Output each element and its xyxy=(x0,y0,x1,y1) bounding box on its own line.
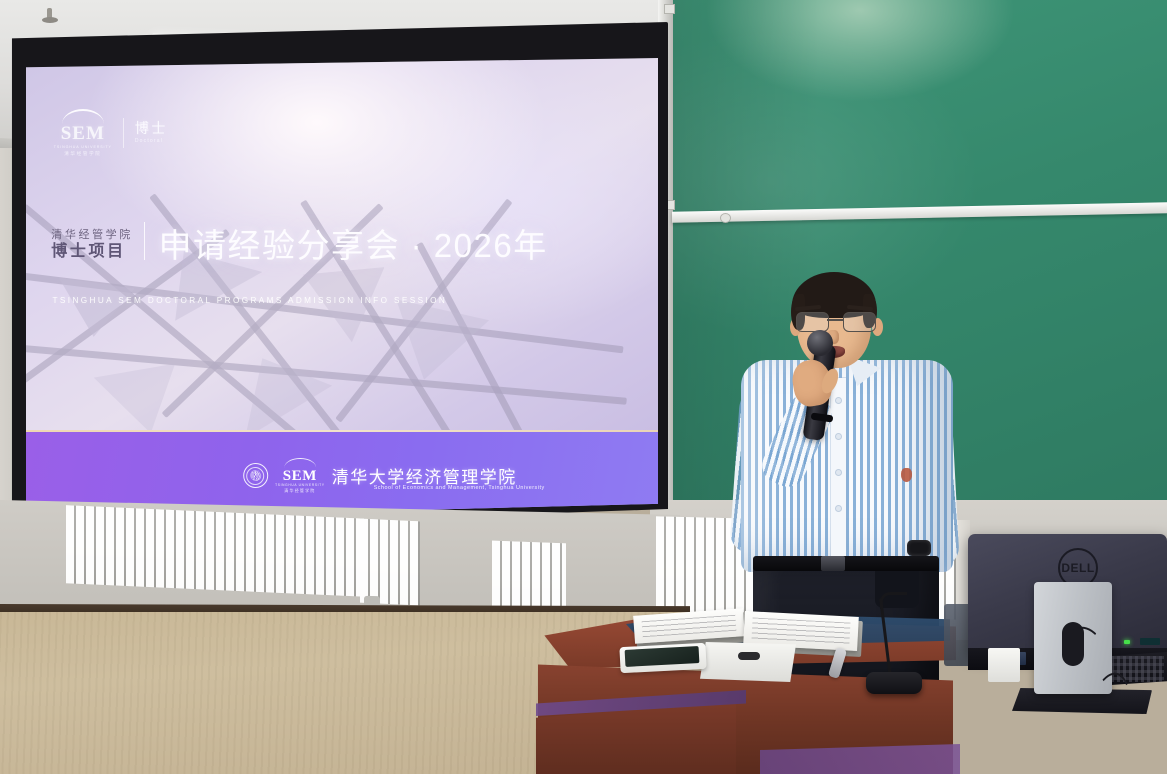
slide-eyebrow: 清华经管学院 博士项目 xyxy=(51,229,133,262)
shirt-button xyxy=(836,434,841,439)
slide-title-row: 清华经管学院 博士项目 申请经验分享会 · 2026年 xyxy=(51,222,547,262)
slide-band-accent-line xyxy=(26,430,658,432)
document-stand-handle xyxy=(738,652,760,660)
footer-sem-text: SEM xyxy=(275,469,325,483)
footer-school-en: School of Economics and Management, Tsin… xyxy=(374,485,545,491)
slide-sem-logo: SEM TSINGHUA UNIVERSITY 清华经管学院 博士 Doctor… xyxy=(54,109,168,157)
program-label-cn: 博士 xyxy=(135,121,168,135)
shirt-button xyxy=(836,398,841,403)
slide-subtitle: TSINGHUA SEM DOCTORAL PROGRAMS ADMISSION… xyxy=(53,296,448,305)
program-badge: 博士 Doctoral xyxy=(135,121,168,144)
sprinkler-icon xyxy=(42,8,58,24)
sem-wordmark: SEM TSINGHUA UNIVERSITY 清华经管学院 xyxy=(54,109,112,157)
projected-slide: SEM TSINGHUA UNIVERSITY 清华经管学院 博士 Doctor… xyxy=(26,58,658,520)
logo-divider xyxy=(123,118,124,148)
slide-main-title: 申请经验分享会 · 2026年 xyxy=(158,229,547,262)
glasses-icon xyxy=(793,312,877,332)
footer-sem-mark: SEM TSINGHUA UNIVERSITY 清华经管学院 xyxy=(275,458,325,494)
sem-logo-text: SEM xyxy=(54,125,112,143)
title-divider xyxy=(144,222,146,260)
shirt-button xyxy=(836,506,841,511)
projection-screen-frame: SEM TSINGHUA UNIVERSITY 清华经管学院 博士 Doctor… xyxy=(8,22,668,532)
speaker-belt xyxy=(753,556,939,571)
led-panel xyxy=(1140,638,1160,645)
sem-logo-chinese: 清华经管学院 xyxy=(54,151,112,157)
sem-arc-icon xyxy=(62,109,104,124)
glasses-bridge xyxy=(827,319,843,321)
footer-arc-icon xyxy=(284,458,316,468)
rail-clip xyxy=(664,4,675,14)
wristwatch xyxy=(907,540,931,556)
power-led-icon xyxy=(1124,640,1130,644)
sem-logo-english: TSINGHUA UNIVERSITY xyxy=(54,145,112,149)
radiator xyxy=(360,519,420,606)
slide-footer-logo: SEM TSINGHUA UNIVERSITY 清华经管学院 清华大学经济管理学… xyxy=(243,458,517,494)
gooseneck-mic-arm xyxy=(880,592,907,609)
lens-left xyxy=(796,312,829,332)
belt-buckle xyxy=(821,556,845,571)
slide-eyebrow-line2: 博士项目 xyxy=(51,242,133,262)
shirt-pocket-logo xyxy=(901,468,912,482)
slide-eyebrow-line1: 清华经管学院 xyxy=(51,229,133,242)
footer-sem-chinese: 清华经管学院 xyxy=(275,488,325,494)
program-label-en: Doctoral xyxy=(135,138,168,144)
lens-right xyxy=(843,312,876,332)
dell-logo-text: DELL xyxy=(1061,561,1094,575)
classroom-photo-scene: SEM TSINGHUA UNIVERSITY 清华经管学院 博士 Doctor… xyxy=(0,0,1167,774)
shirt-button xyxy=(836,470,841,475)
tsinghua-seal-icon xyxy=(243,463,268,488)
gooseneck-mic-base xyxy=(866,672,922,694)
white-box xyxy=(988,648,1020,682)
document-stand xyxy=(700,642,796,682)
footer-sem-english: TSINGHUA UNIVERSITY xyxy=(275,483,325,487)
chalk-holder xyxy=(720,213,731,223)
radiator xyxy=(66,505,366,597)
